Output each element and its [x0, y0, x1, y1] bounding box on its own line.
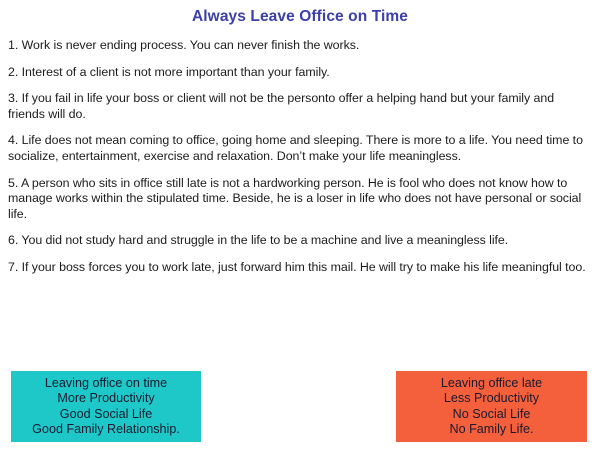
- bad-outcome-box: Leaving office late Less Productivity No…: [396, 371, 587, 442]
- list-item: 7. If your boss forces you to work late,…: [8, 260, 590, 276]
- points-list: 1. Work is never ending process. You can…: [0, 38, 600, 276]
- list-item: 1. Work is never ending process. You can…: [8, 38, 590, 54]
- list-item: 6. You did not study hard and struggle i…: [8, 233, 590, 249]
- document-page: Always Leave Office on Time 1. Work is n…: [0, 0, 600, 450]
- list-item: 5. A person who sits in office still lat…: [8, 176, 590, 223]
- good-outcome-box: Leaving office on time More Productivity…: [11, 371, 201, 442]
- list-item: 4. Life does not mean coming to office, …: [8, 133, 590, 164]
- comparison-boxes: Leaving office on time More Productivity…: [0, 371, 600, 443]
- page-title: Always Leave Office on Time: [0, 0, 600, 26]
- bad-outcome-line: Less Productivity: [444, 391, 539, 406]
- good-outcome-line: Good Family Relationship.: [32, 422, 180, 437]
- good-outcome-line: Good Social Life: [60, 407, 152, 422]
- list-item: 3. If you fail in life your boss or clie…: [8, 91, 590, 122]
- list-item: 2. Interest of a client is not more impo…: [8, 65, 590, 81]
- bad-outcome-line: No Family Life.: [450, 422, 534, 437]
- bad-outcome-line: No Social Life: [453, 407, 531, 422]
- bad-outcome-line: Leaving office late: [441, 376, 542, 391]
- good-outcome-line: More Productivity: [57, 391, 154, 406]
- good-outcome-line: Leaving office on time: [45, 376, 167, 391]
